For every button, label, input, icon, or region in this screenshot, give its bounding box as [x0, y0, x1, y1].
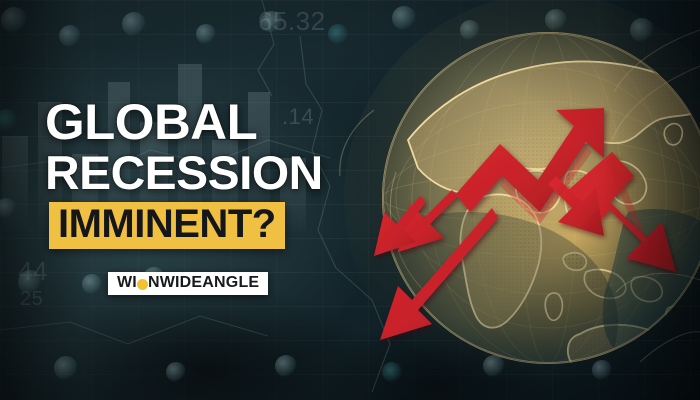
thumbnail-canvas: 65.32.144425 [0, 0, 700, 400]
wion-sun-dot-icon [137, 279, 148, 290]
program-label: WIDEANGLE [160, 275, 260, 291]
headline-block: GLOBAL RECESSION IMMINENT? [45, 98, 405, 249]
headline-highlight-band: IMMINENT? [49, 202, 285, 249]
headline-line-1: GLOBAL [45, 98, 412, 146]
brand-label-left: WI [117, 275, 137, 291]
brand-label-right: N [148, 275, 160, 291]
headline-line-3: IMMINENT? [58, 206, 276, 243]
headline-line-2: RECESSION [45, 150, 412, 195]
wion-wideangle-badge: WI N WIDEANGLE [108, 272, 268, 295]
